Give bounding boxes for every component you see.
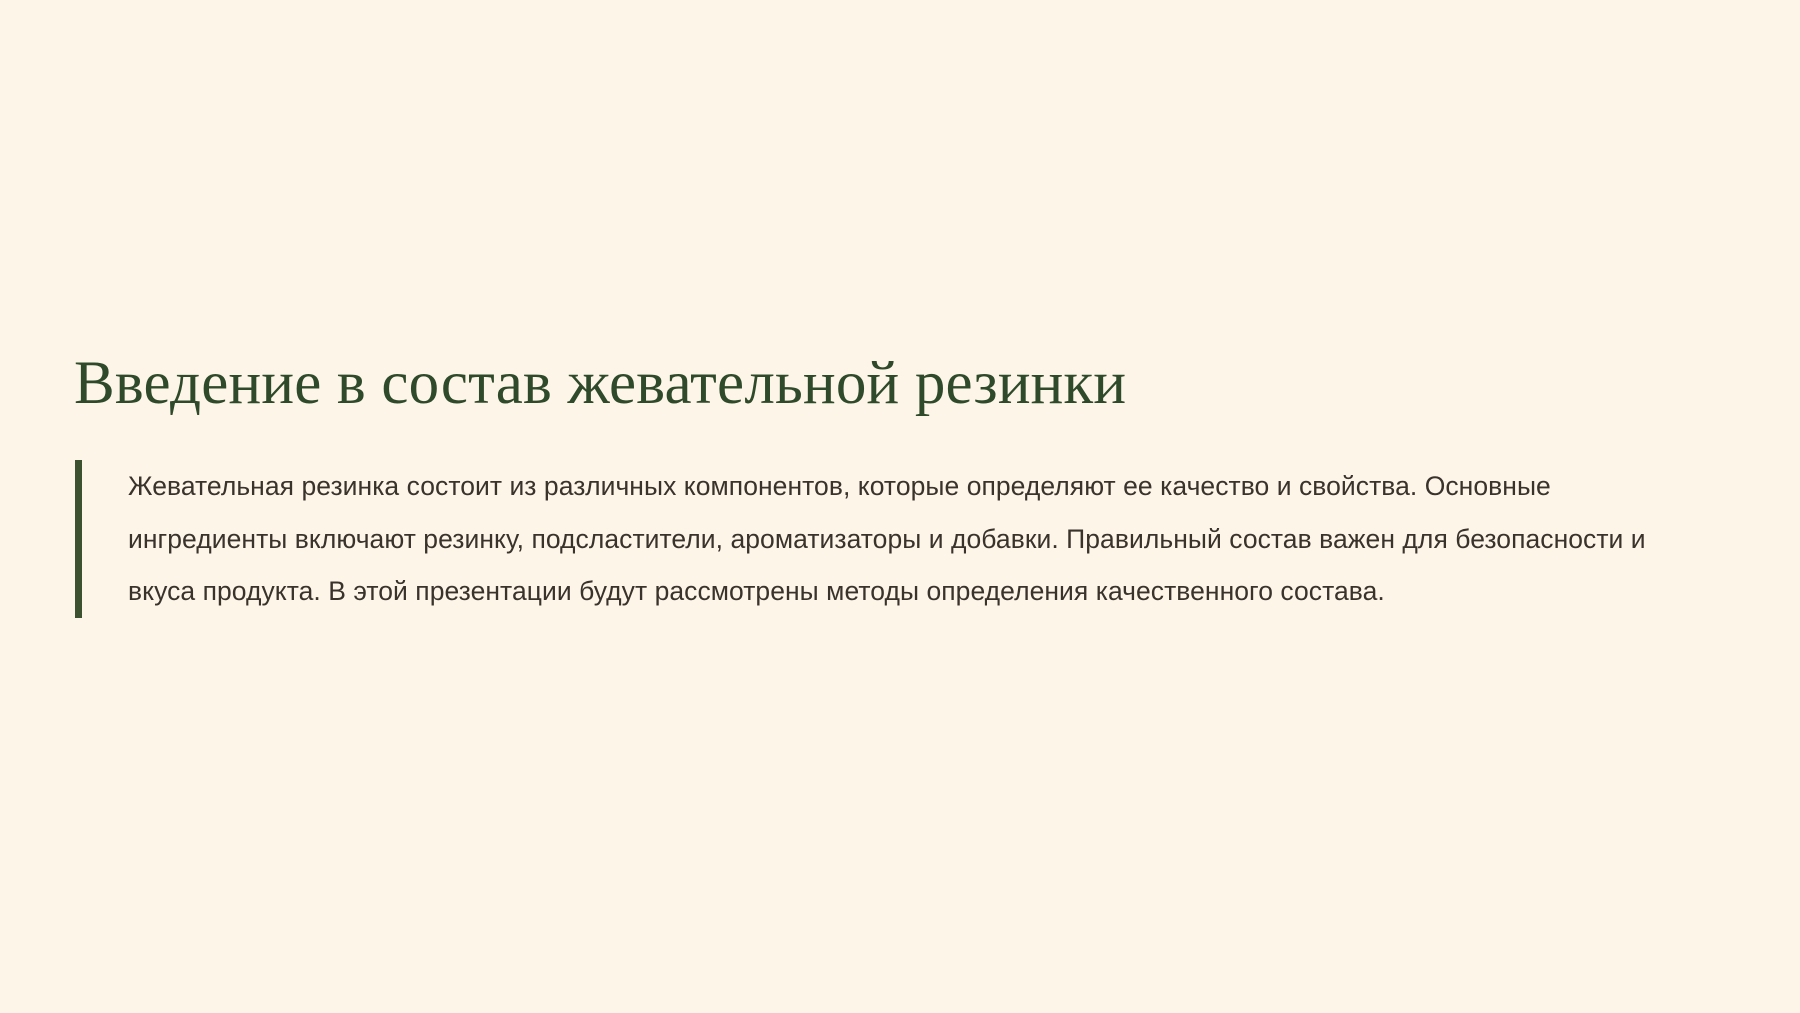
- body-text-block: Жевательная резинка состоит из различных…: [75, 460, 1655, 618]
- slide-title: Введение в состав жевательной резинки: [74, 348, 1674, 420]
- body-paragraph: Жевательная резинка состоит из различных…: [128, 460, 1648, 618]
- accent-bar: [75, 460, 82, 618]
- body-text-container: Жевательная резинка состоит из различных…: [82, 460, 1655, 618]
- presentation-slide: Введение в состав жевательной резинки Же…: [0, 0, 1800, 1013]
